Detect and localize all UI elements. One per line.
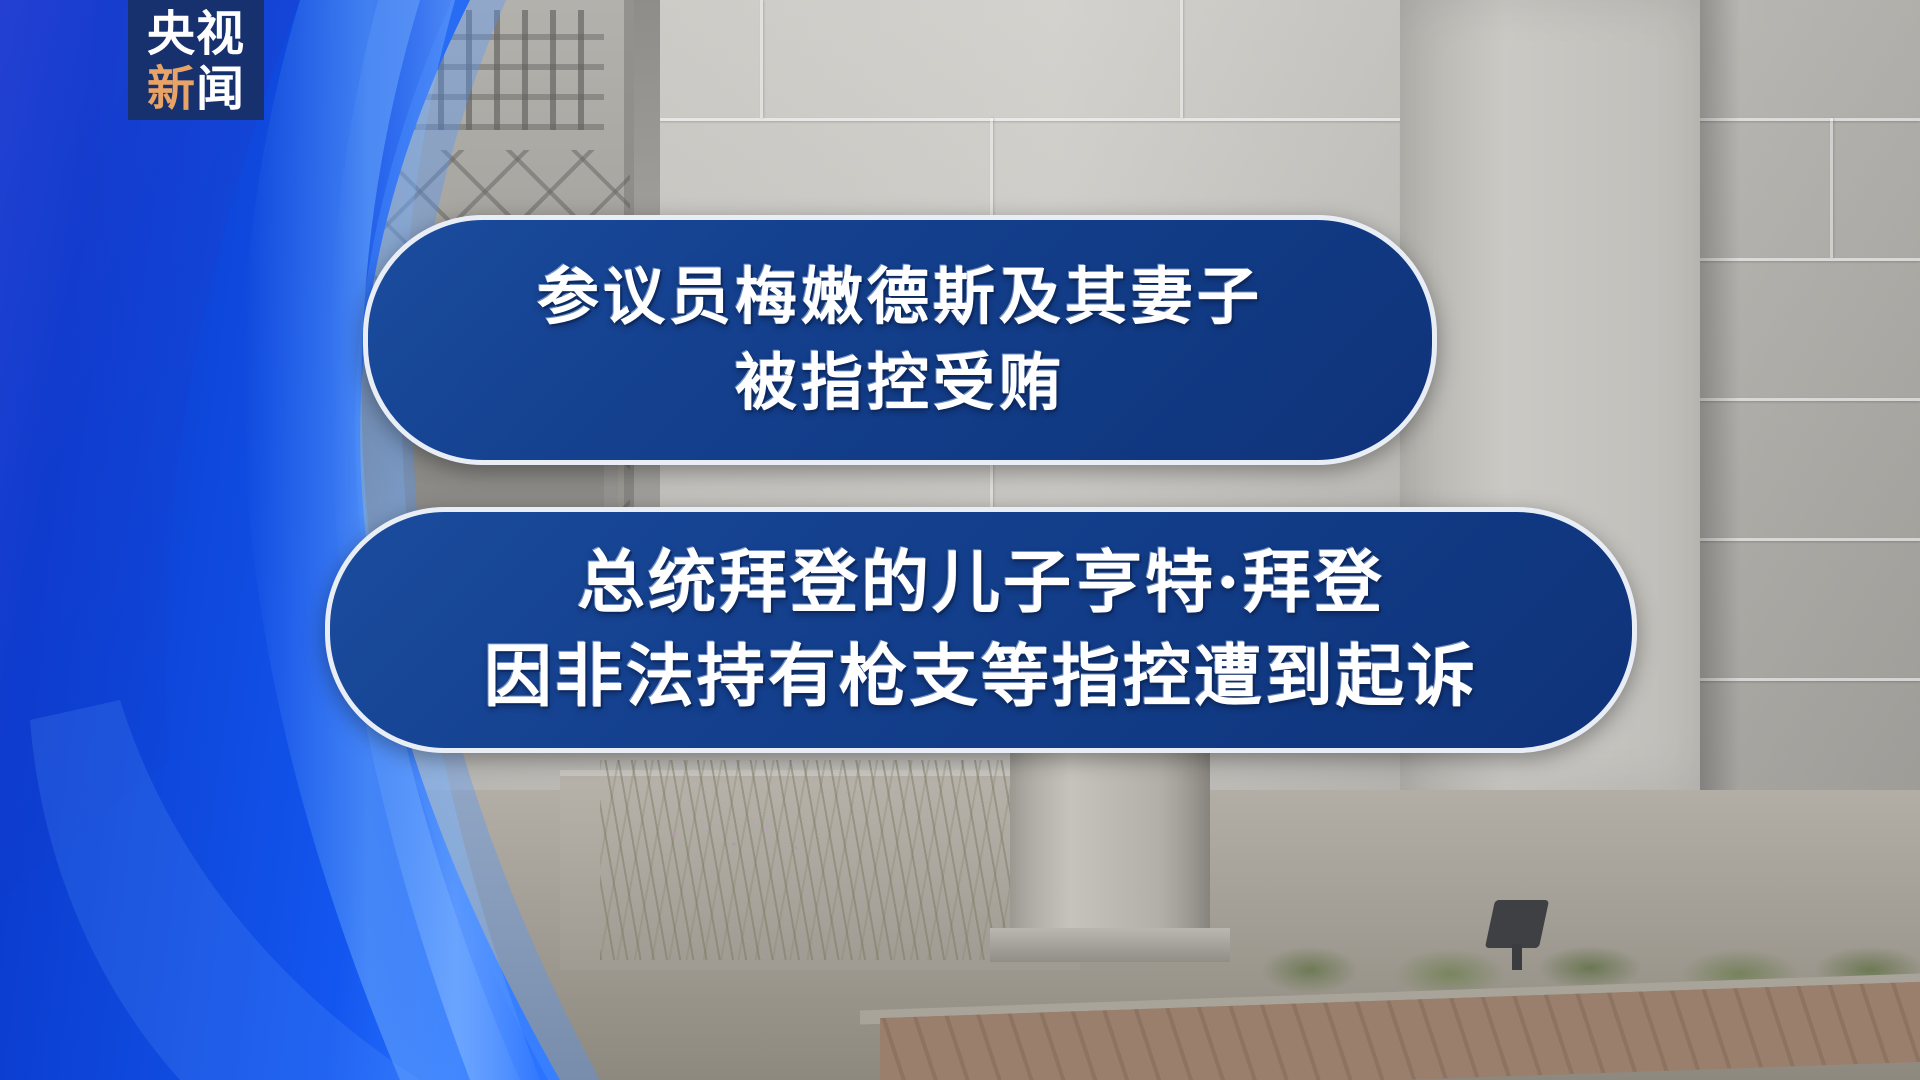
- headline-card-1: 参议员梅嫩德斯及其妻子 被指控受贿: [363, 215, 1437, 465]
- cctv-news-logo: 央视 新闻: [128, 0, 264, 120]
- logo-line-2: 新闻: [147, 62, 245, 117]
- news-graphic-stage: 央视 新闻 参议员梅嫩德斯及其妻子 被指控受贿 总统拜登的儿子亨特·拜登 因非法…: [0, 0, 1920, 1080]
- logo-line-1: 央视: [147, 7, 245, 62]
- headline-card-1-line-2: 被指控受贿: [735, 340, 1065, 426]
- headline-card-2: 总统拜登的儿子亨特·拜登 因非法持有枪支等指控遭到起诉: [325, 507, 1637, 753]
- headline-card-2-line-1: 总统拜登的儿子亨特·拜登: [577, 536, 1385, 630]
- headline-card-2-line-2: 因非法持有枪支等指控遭到起诉: [484, 630, 1478, 724]
- logo-char-wen: 闻: [196, 61, 245, 117]
- logo-char-xin: 新: [147, 61, 196, 117]
- headline-card-1-line-1: 参议员梅嫩德斯及其妻子: [537, 254, 1263, 340]
